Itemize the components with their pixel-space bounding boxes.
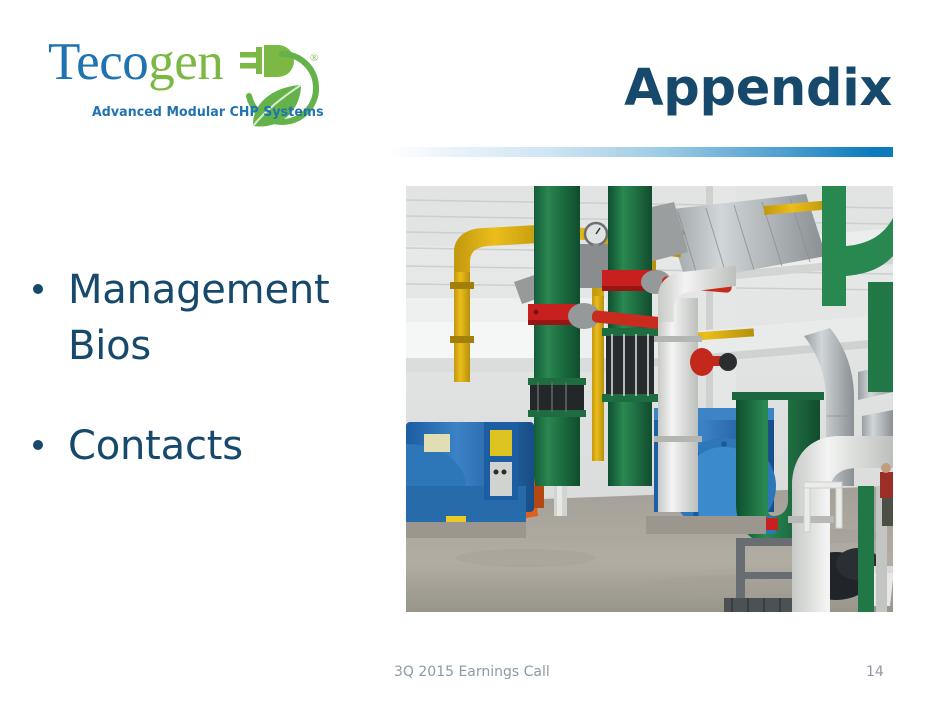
tecogen-logo[interactable]: Tecogen ® Advanced Modular CHP Systems	[42, 32, 302, 137]
bullet-list: Management Bios Contacts	[33, 262, 378, 518]
page-title: Appendix	[624, 60, 892, 118]
list-item[interactable]: Contacts	[33, 418, 378, 474]
slide-canvas: Tecogen ® Advanced Modular CHP Systems A…	[0, 0, 940, 705]
list-item-label: Management Bios	[68, 262, 378, 374]
logo-word-second: gen	[148, 33, 223, 91]
title-underline-gradient-bar	[390, 147, 893, 157]
mechanical-room-photo	[406, 186, 893, 612]
logo-tagline: Advanced Modular CHP Systems	[92, 104, 324, 120]
list-item[interactable]: Management Bios	[33, 262, 378, 374]
plug-leaf-logomark-icon	[238, 36, 340, 138]
logo-wordmark: Tecogen	[48, 32, 223, 92]
list-item-label: Contacts	[68, 418, 243, 474]
bullet-dot-icon	[33, 284, 43, 294]
footer-label: 3Q 2015 Earnings Call	[394, 664, 550, 680]
bullet-dot-icon	[33, 440, 43, 450]
registered-trademark-icon: ®	[310, 52, 318, 64]
page-number: 14	[866, 664, 884, 680]
logo-word-first: Teco	[48, 33, 148, 91]
